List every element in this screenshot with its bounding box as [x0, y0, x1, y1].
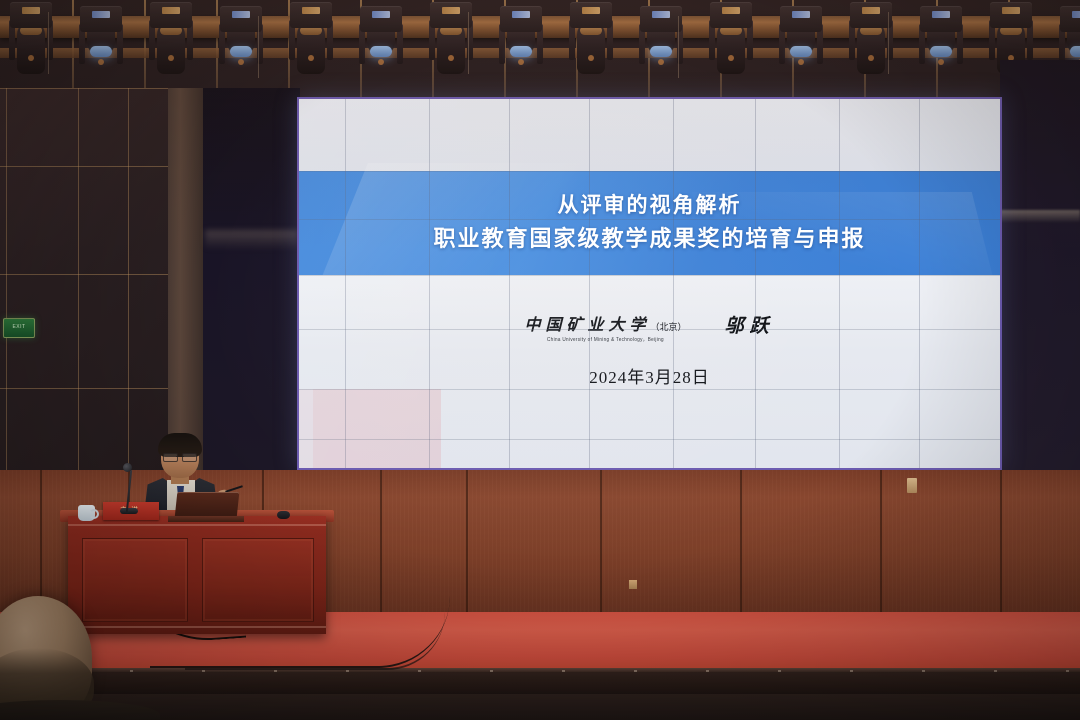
stage-light-fixture [638, 6, 684, 84]
exit-sign: EXIT [3, 318, 35, 338]
led-video-wall[interactable]: 从评审的视角解析 职业教育国家级教学成果奖的培育与申报 中国矿业大学（北京） C… [297, 97, 1002, 470]
stage-skirt [0, 672, 1080, 696]
university-logo-block: 中国矿业大学（北京） China University of Mining & … [524, 311, 686, 343]
left-wall-tiles [0, 88, 170, 470]
stage-light-fixture [498, 6, 544, 84]
stage-light-fixture [8, 2, 54, 80]
laptop-base [168, 516, 244, 522]
stage-light-fixture [708, 2, 754, 80]
stage-light-fixture [148, 2, 194, 80]
right-wall-light-strip [1000, 210, 1080, 222]
wood-panel-seam [600, 470, 602, 620]
stage-light-fixture [288, 2, 334, 80]
stage-light-fixture [218, 6, 264, 84]
slide-bottom-white-band: 中国矿业大学（北京） China University of Mining & … [299, 275, 1000, 468]
university-name-cn-main: 中国矿业大学 [524, 317, 650, 334]
microphone-icon [123, 463, 132, 472]
wall-socket-lower [629, 580, 637, 589]
slide-credit-row: 中国矿业大学（北京） China University of Mining & … [299, 311, 1000, 343]
wood-panel-seam [740, 470, 742, 620]
stage-light-fixture [918, 6, 964, 84]
university-name-cn-paren: （北京） [650, 322, 686, 332]
slide-top-white-band [299, 99, 1000, 171]
presentation-slide: 从评审的视角解析 职业教育国家级教学成果奖的培育与申报 中国矿业大学（北京） C… [299, 99, 1000, 468]
right-wall-dark [1000, 60, 1080, 470]
glasses-icon [163, 453, 197, 460]
mouse-icon[interactable] [277, 511, 290, 519]
recess-glow [205, 230, 298, 250]
wood-panel-seam [1000, 470, 1002, 620]
slide-title-line-1: 从评审的视角解析 [558, 192, 742, 220]
university-name-cn: 中国矿业大学（北京） [524, 311, 686, 335]
slide-speaker-name: 邬跃 [725, 311, 775, 338]
university-name-en: China University of Mining & Technology，… [547, 337, 664, 344]
podium-panel-left [82, 538, 188, 622]
podium-panel-right [202, 538, 314, 622]
stage-light-fixture [568, 2, 614, 80]
wall-pillar [168, 88, 203, 470]
wood-panel-seam [880, 470, 882, 620]
teacup [78, 505, 95, 521]
stage-light-fixture [428, 2, 474, 80]
stage-light-fixture [78, 6, 124, 84]
slide-date: 2024年3月28日 [299, 363, 1000, 388]
podium [68, 516, 326, 634]
presentation-hall-photo: EXIT 从评审的视角解析 职业教育国家级教学成果奖的培育与申报 中国矿业大学（… [0, 0, 1080, 720]
microphone-base [120, 508, 138, 514]
wall-socket [907, 478, 917, 493]
laptop[interactable] [175, 492, 240, 518]
stage-front-band [0, 694, 1080, 720]
slide-title-line-2: 职业教育国家级教学成果奖的培育与申报 [433, 224, 865, 254]
stage-light-fixture [778, 6, 824, 84]
wall-dark-recess [203, 88, 300, 470]
exit-sign-label: EXIT [4, 319, 34, 335]
slide-blue-title-band: 从评审的视角解析 职业教育国家级教学成果奖的培育与申报 [299, 171, 1000, 275]
stage-light-fixture [848, 2, 894, 80]
stage-light-fixture [358, 6, 404, 84]
wood-panel-seam [466, 470, 468, 620]
